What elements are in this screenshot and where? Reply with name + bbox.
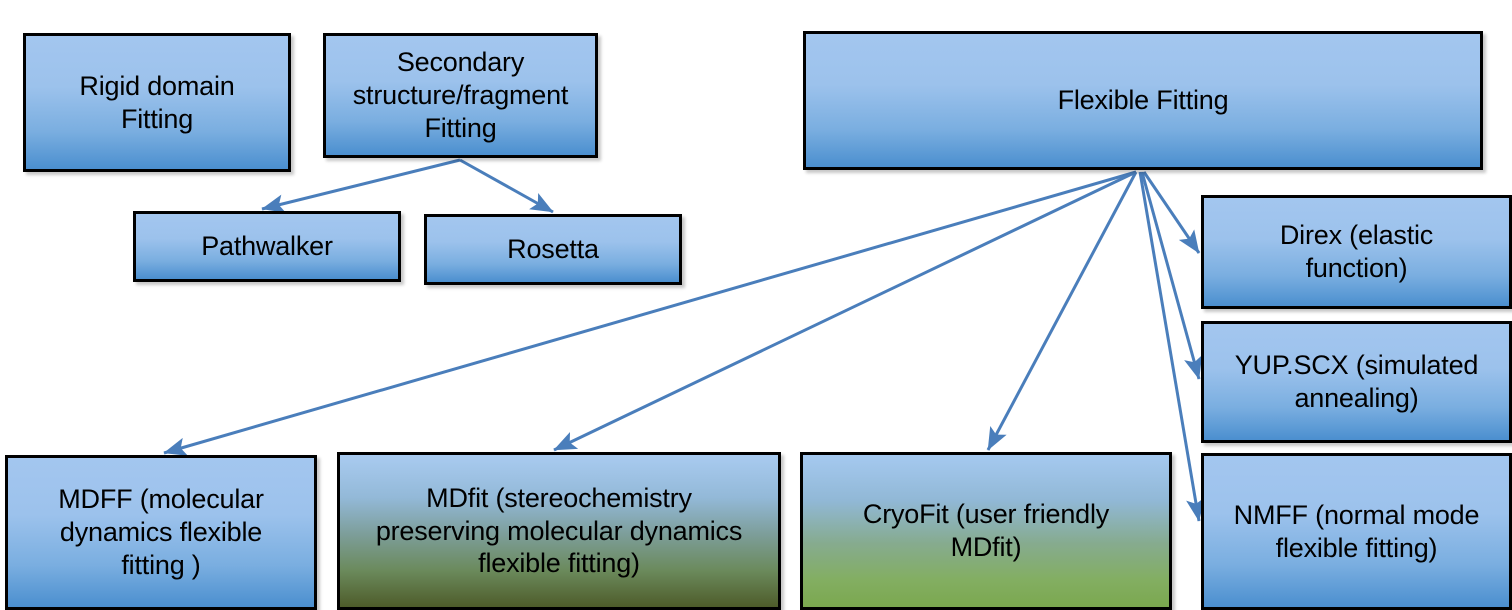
edge-secondary-to-rosetta bbox=[460, 160, 553, 212]
node-nmff[interactable]: NMFF (normal mode flexible fitting) bbox=[1201, 453, 1512, 610]
node-secondary-structure-fragment-fitting[interactable]: Secondary structure/fragment Fitting bbox=[323, 33, 598, 158]
diagram-canvas: Rigid domain FittingSecondary structure/… bbox=[0, 0, 1512, 610]
edge-flexible-to-cryofit bbox=[988, 172, 1136, 450]
node-cryofit[interactable]: CryoFit (user friendly MDfit) bbox=[800, 452, 1172, 610]
node-label: Rigid domain Fitting bbox=[79, 70, 234, 136]
node-label: MDFF (molecular dynamics flexible fittin… bbox=[58, 483, 264, 582]
node-label: Pathwalker bbox=[201, 230, 333, 263]
node-rosetta[interactable]: Rosetta bbox=[424, 214, 682, 285]
edge-flexible-to-yupscx bbox=[1142, 172, 1199, 379]
node-mdfit[interactable]: MDfit (stereochemistry preserving molecu… bbox=[337, 452, 781, 610]
node-flexible-fitting[interactable]: Flexible Fitting bbox=[803, 31, 1483, 170]
node-label: MDfit (stereochemistry preserving molecu… bbox=[376, 482, 742, 581]
edge-flexible-to-direx bbox=[1144, 172, 1199, 253]
node-label: Rosetta bbox=[507, 233, 599, 266]
node-label: Secondary structure/fragment Fitting bbox=[353, 46, 569, 145]
node-label: Direx (elastic function) bbox=[1280, 219, 1433, 285]
node-label: NMFF (normal mode flexible fitting) bbox=[1234, 499, 1480, 565]
node-rigid-domain-fitting[interactable]: Rigid domain Fitting bbox=[23, 33, 291, 172]
node-label: Flexible Fitting bbox=[1058, 84, 1229, 117]
node-yup-scx[interactable]: YUP.SCX (simulated annealing) bbox=[1201, 321, 1512, 443]
edge-secondary-to-pathwalker bbox=[262, 160, 460, 209]
node-pathwalker[interactable]: Pathwalker bbox=[133, 211, 401, 282]
node-label: CryoFit (user friendly MDfit) bbox=[863, 498, 1109, 564]
node-mdff[interactable]: MDFF (molecular dynamics flexible fittin… bbox=[5, 455, 317, 610]
node-direx[interactable]: Direx (elastic function) bbox=[1201, 195, 1512, 309]
node-label: YUP.SCX (simulated annealing) bbox=[1235, 349, 1479, 415]
